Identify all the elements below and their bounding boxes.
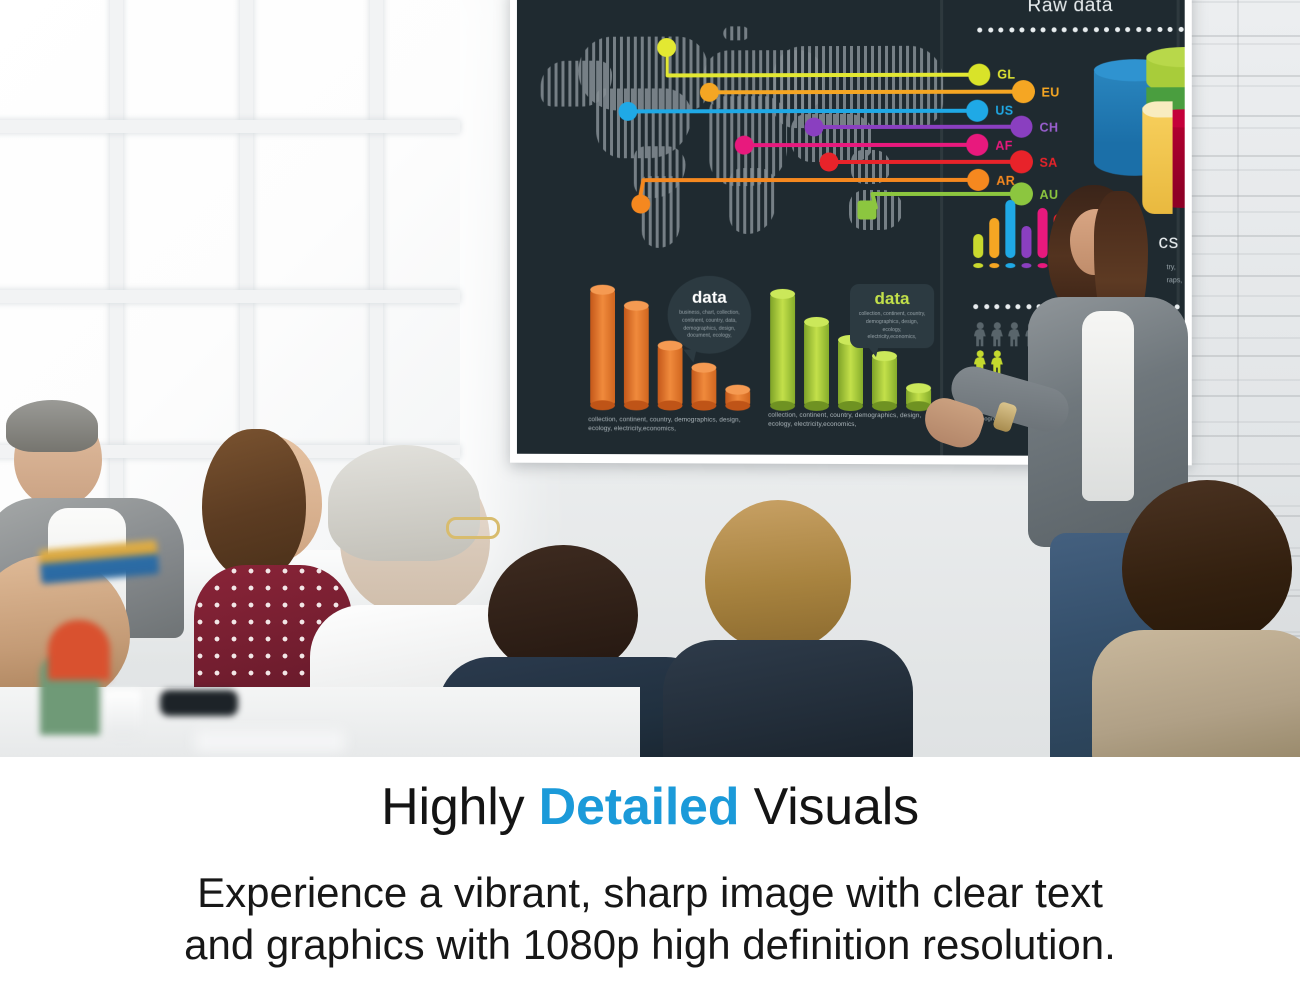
- panel-title-raw-data: Raw data: [1027, 0, 1113, 17]
- dotted-rule-top: [977, 27, 1184, 33]
- data-bubble-green: data collection, continent, country, dem…: [850, 284, 934, 348]
- subline-line-2: and graphics with 1080p high definition …: [30, 919, 1270, 971]
- data-bubble-grey: data business, chart, collection, contin…: [668, 276, 752, 354]
- cyl-bar: [725, 390, 750, 406]
- audience-member-right: [1100, 480, 1300, 757]
- papers-on-table: [195, 730, 345, 752]
- photo-scene: GL EU US CH: [0, 0, 1300, 757]
- data-bubble-green-title: data: [875, 290, 910, 307]
- subline: Experience a vibrant, sharp image with c…: [30, 867, 1270, 970]
- headline-accent: Detailed: [539, 778, 740, 836]
- cyl-bar: [624, 306, 649, 406]
- person-icon: [1007, 322, 1020, 346]
- cyl-bar: [804, 322, 829, 406]
- world-map: [535, 18, 963, 243]
- subline-line-1: Experience a vibrant, sharp image with c…: [30, 867, 1270, 919]
- cyl-bar: [658, 346, 683, 406]
- headline-pre: Highly: [381, 778, 539, 836]
- cyl-bar: [590, 290, 615, 406]
- glasses-on-table: [160, 690, 238, 716]
- person-icon: [990, 322, 1003, 346]
- headline-post: Visuals: [739, 778, 919, 836]
- cyl-bar: [691, 368, 716, 406]
- page-root: GL EU US CH: [0, 0, 1300, 1000]
- caption-block: Highly Detailed Visuals Experience a vib…: [0, 757, 1300, 1000]
- orange-chart-caption: collection, continent, country, demograp…: [588, 415, 752, 434]
- cyl-bar: [838, 340, 863, 406]
- cyl-bar: [906, 388, 931, 406]
- data-bubble-grey-title: data: [692, 289, 727, 306]
- audience-member-blonde: [675, 500, 895, 757]
- red-chair-back: [48, 620, 110, 680]
- green-chart-caption: collection, continent, country, demograp…: [768, 411, 933, 430]
- coffee-cup: [105, 690, 141, 738]
- cyl-bar: [872, 356, 897, 406]
- data-bubble-green-text: collection, continent, country, demograp…: [850, 311, 934, 342]
- person-icon: [973, 322, 986, 346]
- headline: Highly Detailed Visuals: [0, 777, 1300, 837]
- data-bubble-grey-text: business, chart, collection, continent, …: [668, 310, 752, 341]
- cyl-bar: [770, 294, 795, 406]
